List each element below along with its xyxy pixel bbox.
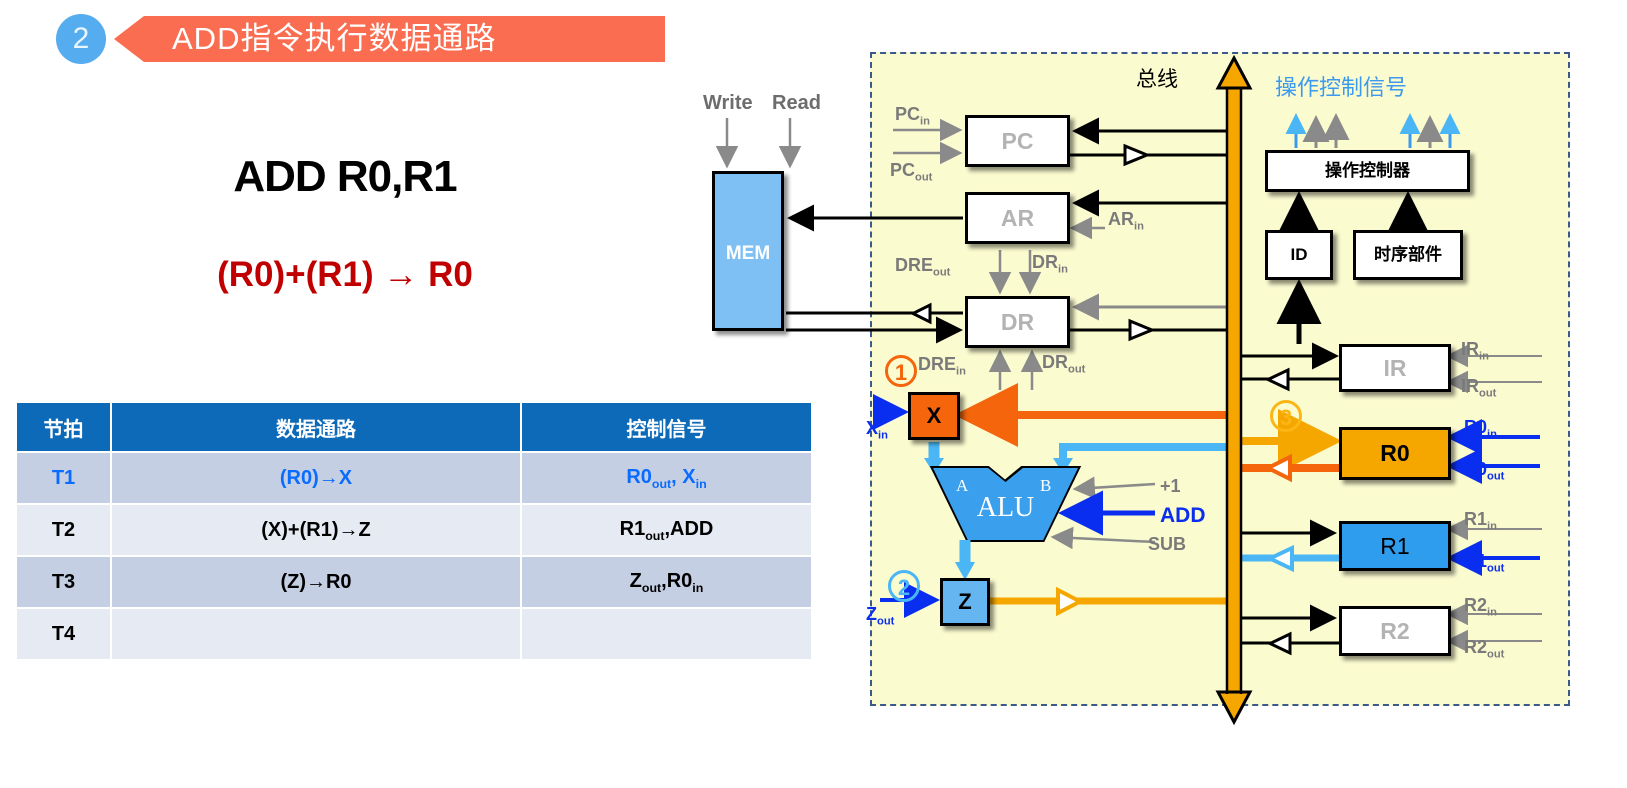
pc-in-signal-label: PCin [895,104,930,128]
table-header-row: 节拍 数据通路 控制信号 [16,402,812,452]
alu-port-a-label: A [956,476,968,496]
column-header-beat: 节拍 [16,402,111,452]
pc-register-block: PC [965,115,1070,167]
dr-out-signal-label: DRout [1042,352,1085,376]
operation-control-signal-label: 操作控制信号 [1275,70,1407,102]
cell-beat: T2 [16,504,111,556]
instruction-decoder-block: ID [1265,230,1333,280]
z-register-block: Z [940,578,990,626]
x-register-block: X [908,392,960,440]
memory-block: MEM [712,171,784,331]
cell-datapath: (X)+(R1)→Z [111,504,521,556]
dr-in-signal-label: DRin [1032,252,1068,276]
section-title-text: ADD指令执行数据通路 [172,16,665,62]
dr-register-block: DR [965,296,1070,348]
table-row: T2 (X)+(R1)→Z R1out,ADD [16,504,812,556]
z-out-signal-label: Zout [866,604,894,628]
r0-out-signal-label: R0out [1464,459,1504,483]
timing-unit-block: 时序部件 [1353,230,1463,280]
step-marker-3: 3 [1270,400,1302,432]
bus-label: 总线 [1136,63,1178,93]
r2-out-signal-label: R2out [1464,637,1504,661]
ir-out-signal-label: IRout [1461,376,1496,400]
alu-add-signal-label: ADD [1160,504,1206,528]
cell-datapath: (Z)→R0 [111,556,521,608]
section-title-banner: ADD指令执行数据通路 [114,16,665,62]
r1-out-signal-label: R1out [1464,551,1504,575]
step-marker-2: 2 [888,570,920,602]
alu-port-b-label: B [1040,476,1051,496]
r1-register-block: R1 [1339,521,1451,571]
cell-datapath: (R0)→X [111,452,521,504]
column-header-control: 控制信号 [521,402,812,452]
ar-register-block: AR [965,192,1070,244]
alu-sub-signal-label: SUB [1148,534,1186,555]
instruction-rtl: (R0)+(R1) → R0 [0,255,690,295]
cell-control [521,608,812,660]
ar-in-signal-label: ARin [1108,209,1144,233]
cell-control: R0out, Xin [521,452,812,504]
r0-register-block: R0 [1339,427,1451,480]
instruction-mnemonic: ADD R0,R1 [0,152,690,202]
write-signal-label: Write [703,92,753,115]
ir-register-block: IR [1339,344,1451,392]
read-signal-label: Read [772,92,821,115]
alu-plus1-signal-label: +1 [1160,476,1181,497]
r0-in-signal-label: R0in [1464,417,1497,441]
timing-table: 节拍 数据通路 控制信号 T1 (R0)→X R0out, Xin T2 (X)… [15,401,813,661]
table-row: T3 (Z)→R0 Zout,R0in [16,556,812,608]
table-row: T1 (R0)→X R0out, Xin [16,452,812,504]
operation-controller-block: 操作控制器 [1265,150,1470,192]
r2-register-block: R2 [1339,606,1451,656]
pc-out-signal-label: PCout [890,160,932,184]
cell-beat: T3 [16,556,111,608]
cell-beat: T4 [16,608,111,660]
x-in-signal-label: Xin [866,418,888,442]
column-header-datapath: 数据通路 [111,402,521,452]
cell-control: R1out,ADD [521,504,812,556]
step-marker-1: 1 [885,355,917,387]
ir-in-signal-label: IRin [1461,339,1489,363]
r2-in-signal-label: R2in [1464,595,1497,619]
r1-in-signal-label: R1in [1464,509,1497,533]
section-number-badge: 2 [56,14,106,64]
cell-beat: T1 [16,452,111,504]
dre-in-signal-label: DREin [918,354,966,378]
alu-label: ALU [933,492,1078,524]
cell-datapath [111,608,521,660]
dre-out-signal-label: DREout [895,255,950,279]
table-row: T4 [16,608,812,660]
cell-control: Zout,R0in [521,556,812,608]
